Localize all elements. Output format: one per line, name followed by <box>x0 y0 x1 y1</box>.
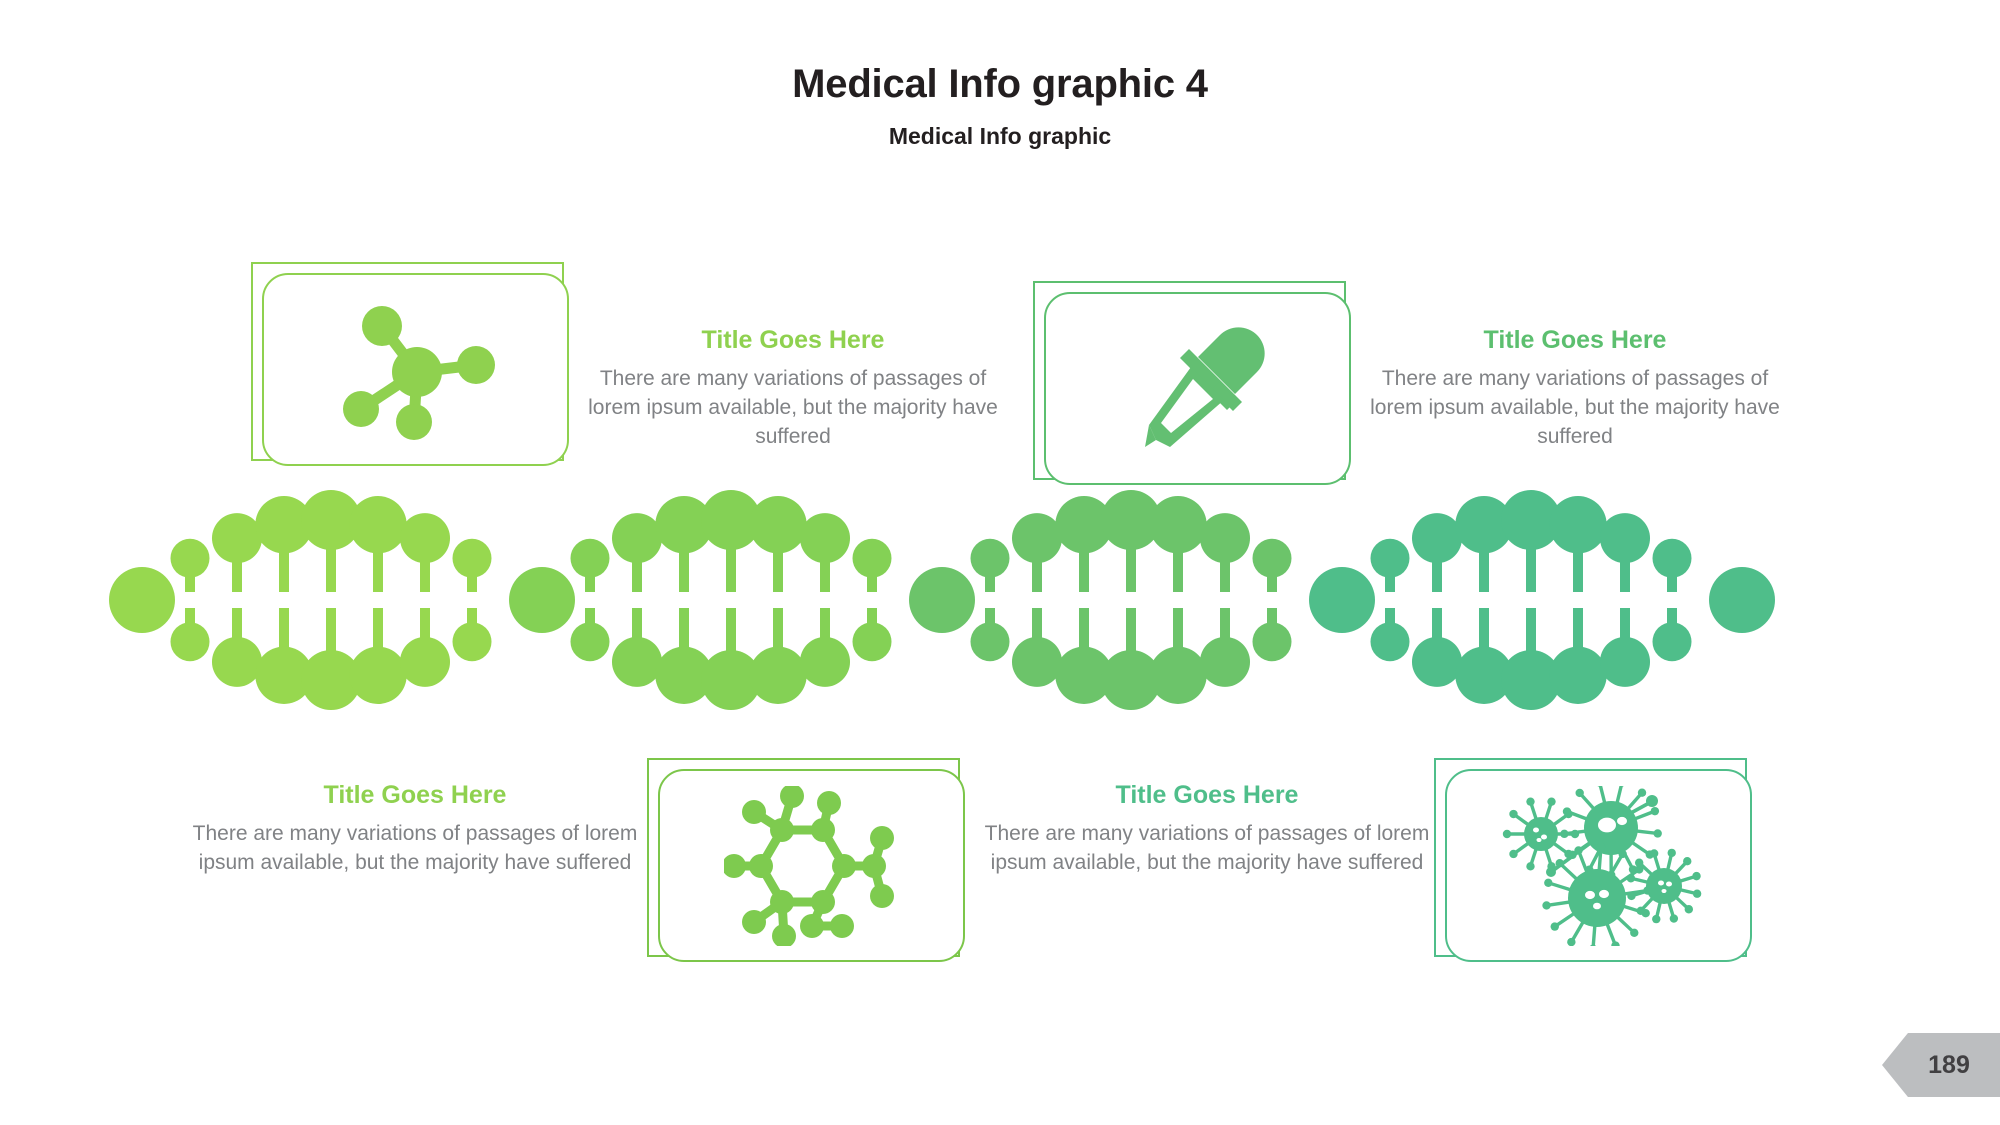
dna-node <box>1149 647 1206 704</box>
virus-pore <box>1599 889 1609 897</box>
virus-pore <box>1598 817 1616 832</box>
dna-node <box>1370 539 1409 578</box>
virus-spike-tip <box>1646 795 1658 807</box>
virus-pore <box>1617 816 1627 824</box>
dna-node <box>970 539 1009 578</box>
virus-spike-tip <box>1652 914 1660 922</box>
dna-svg <box>0 490 2000 710</box>
dna-node <box>1412 513 1462 563</box>
virus-spike-tip <box>1683 856 1691 864</box>
virus-spike-tip <box>1684 905 1692 913</box>
text-block-4: Title Goes Here There are many variation… <box>982 780 1432 878</box>
dna-node <box>1252 539 1291 578</box>
dna-node <box>1412 637 1462 687</box>
panel-title: Title Goes Here <box>982 780 1432 810</box>
virus-pore <box>1533 827 1539 832</box>
text-block-1: Title Goes Here There are many variation… <box>573 325 1013 452</box>
virus-spike-tip <box>1669 914 1677 922</box>
virus-spike-tip <box>1526 862 1534 870</box>
virus-spike-tip <box>1630 928 1638 936</box>
virus-spike-tip <box>1634 858 1642 866</box>
dna-node <box>800 513 850 563</box>
dna-node <box>212 513 262 563</box>
virus-spike-tip <box>1509 849 1517 857</box>
dna-node <box>1600 637 1650 687</box>
icon-frame-inner <box>1445 769 1752 962</box>
virus-spike-tip <box>1562 807 1570 815</box>
panel-body: There are many variations of passages of… <box>1355 365 1795 452</box>
page-title: Medical Info graphic 4 <box>0 62 2000 106</box>
slide-header: Medical Info graphic 4 Medical Info grap… <box>0 0 2000 149</box>
virus-spike-tip <box>1692 889 1700 897</box>
dropper-icon <box>1123 319 1273 459</box>
virus-body <box>1568 869 1626 927</box>
icon-frame-virus[interactable] <box>1434 758 1747 957</box>
virus-spike-tip <box>1575 788 1583 796</box>
virus-pore <box>1661 888 1666 892</box>
dna-node <box>970 622 1009 661</box>
panel-title: Title Goes Here <box>190 780 640 810</box>
page-number: 189 <box>1912 1053 1970 1078</box>
virus-spike-tip <box>1649 849 1657 857</box>
virus-spike-tip <box>1502 829 1510 837</box>
dna-node <box>852 539 891 578</box>
icon-frame-inner <box>262 273 569 466</box>
virus-spike-tip <box>1692 871 1700 879</box>
icon-frame-benzene[interactable] <box>647 758 960 957</box>
panel-body: There are many variations of passages of… <box>573 365 1013 452</box>
virus-spike <box>1551 844 1589 872</box>
virus-spike <box>1593 924 1595 945</box>
molecule-icon <box>331 300 501 440</box>
virus-spike-tip <box>1588 944 1596 945</box>
icon-frame-molecule[interactable] <box>251 262 564 461</box>
dna-node <box>170 539 209 578</box>
dna-node <box>1652 622 1691 661</box>
dna-node <box>1370 622 1409 661</box>
virus-spike-tip <box>1650 806 1658 814</box>
virus-body <box>1524 817 1558 851</box>
dna-node <box>1549 647 1606 704</box>
dna-node <box>800 637 850 687</box>
virus-spike <box>1599 786 1604 804</box>
virus-pore <box>1541 834 1547 839</box>
virus-spike-tip <box>1596 842 1604 850</box>
virus-spike-tip <box>1653 829 1661 837</box>
dna-node <box>452 622 491 661</box>
virus-spike-tip <box>1626 874 1634 882</box>
dna-node <box>452 539 491 578</box>
virus-spike-tip <box>1637 788 1645 796</box>
page-subtitle: Medical Info graphic <box>0 106 2000 149</box>
panel-title: Title Goes Here <box>573 325 1013 355</box>
dna-node <box>400 513 450 563</box>
dna-node <box>1252 622 1291 661</box>
virus-pore <box>1658 880 1664 885</box>
virus-body <box>1646 868 1682 904</box>
dna-node <box>1012 513 1062 563</box>
virus-spike-tip <box>1542 901 1550 909</box>
virus-spike-tip <box>1567 937 1575 945</box>
dna-node <box>612 513 662 563</box>
icon-frame-inner <box>658 769 965 962</box>
dna-node <box>1709 567 1775 633</box>
panel-body: There are many variations of passages of… <box>190 820 640 878</box>
dna-node <box>349 496 406 553</box>
virus-spike-tip <box>1546 867 1556 877</box>
dna-node <box>1200 637 1250 687</box>
dna-node <box>1149 496 1206 553</box>
dna-node <box>509 567 575 633</box>
dna-node <box>109 567 175 633</box>
virus-spike-tip <box>1667 848 1675 856</box>
virus-spike-tip <box>1550 922 1558 930</box>
virus-spike-tip <box>1617 786 1625 787</box>
text-block-2: Title Goes Here There are many variation… <box>1355 325 1795 452</box>
icon-frame-inner <box>1044 292 1351 485</box>
virus-pore <box>1536 837 1541 841</box>
dna-double-helix <box>0 490 2000 710</box>
panel-body: There are many variations of passages of… <box>982 820 1432 878</box>
virus-spike-tip <box>1636 906 1644 914</box>
virus-spike-tip <box>1547 797 1555 805</box>
dna-node <box>170 622 209 661</box>
virus-spike-tip <box>1560 829 1568 837</box>
virus-spike-tip <box>1595 786 1603 787</box>
dna-node <box>1309 567 1375 633</box>
dna-node <box>349 647 406 704</box>
dna-node <box>400 637 450 687</box>
benzene-molecule-icon <box>724 786 899 946</box>
dna-node <box>570 622 609 661</box>
dna-node <box>909 567 975 633</box>
virus-spike-tip <box>1627 891 1635 899</box>
dna-node <box>749 647 806 704</box>
virus-icon <box>1489 786 1709 946</box>
virus-pore <box>1585 890 1595 898</box>
virus-spike-tip <box>1544 878 1552 886</box>
dna-node <box>1200 513 1250 563</box>
virus-pore <box>1666 881 1672 886</box>
icon-frame-dropper[interactable] <box>1033 281 1346 480</box>
virus-spike-tip <box>1509 809 1517 817</box>
virus-pore <box>1593 902 1601 909</box>
dna-node <box>1600 513 1650 563</box>
dna-node <box>212 637 262 687</box>
dna-node <box>570 539 609 578</box>
dna-node <box>1652 539 1691 578</box>
dna-node <box>1549 496 1606 553</box>
dna-node <box>1012 637 1062 687</box>
dna-node <box>852 622 891 661</box>
panel-title: Title Goes Here <box>1355 325 1795 355</box>
text-block-3: Title Goes Here There are many variation… <box>190 780 640 878</box>
page-number-badge: 189 <box>1882 1033 2000 1097</box>
dna-node <box>612 637 662 687</box>
dna-node <box>749 496 806 553</box>
virus-spike-tip <box>1618 849 1626 857</box>
virus-spike <box>1616 786 1621 804</box>
virus-spike-tip <box>1526 797 1534 805</box>
